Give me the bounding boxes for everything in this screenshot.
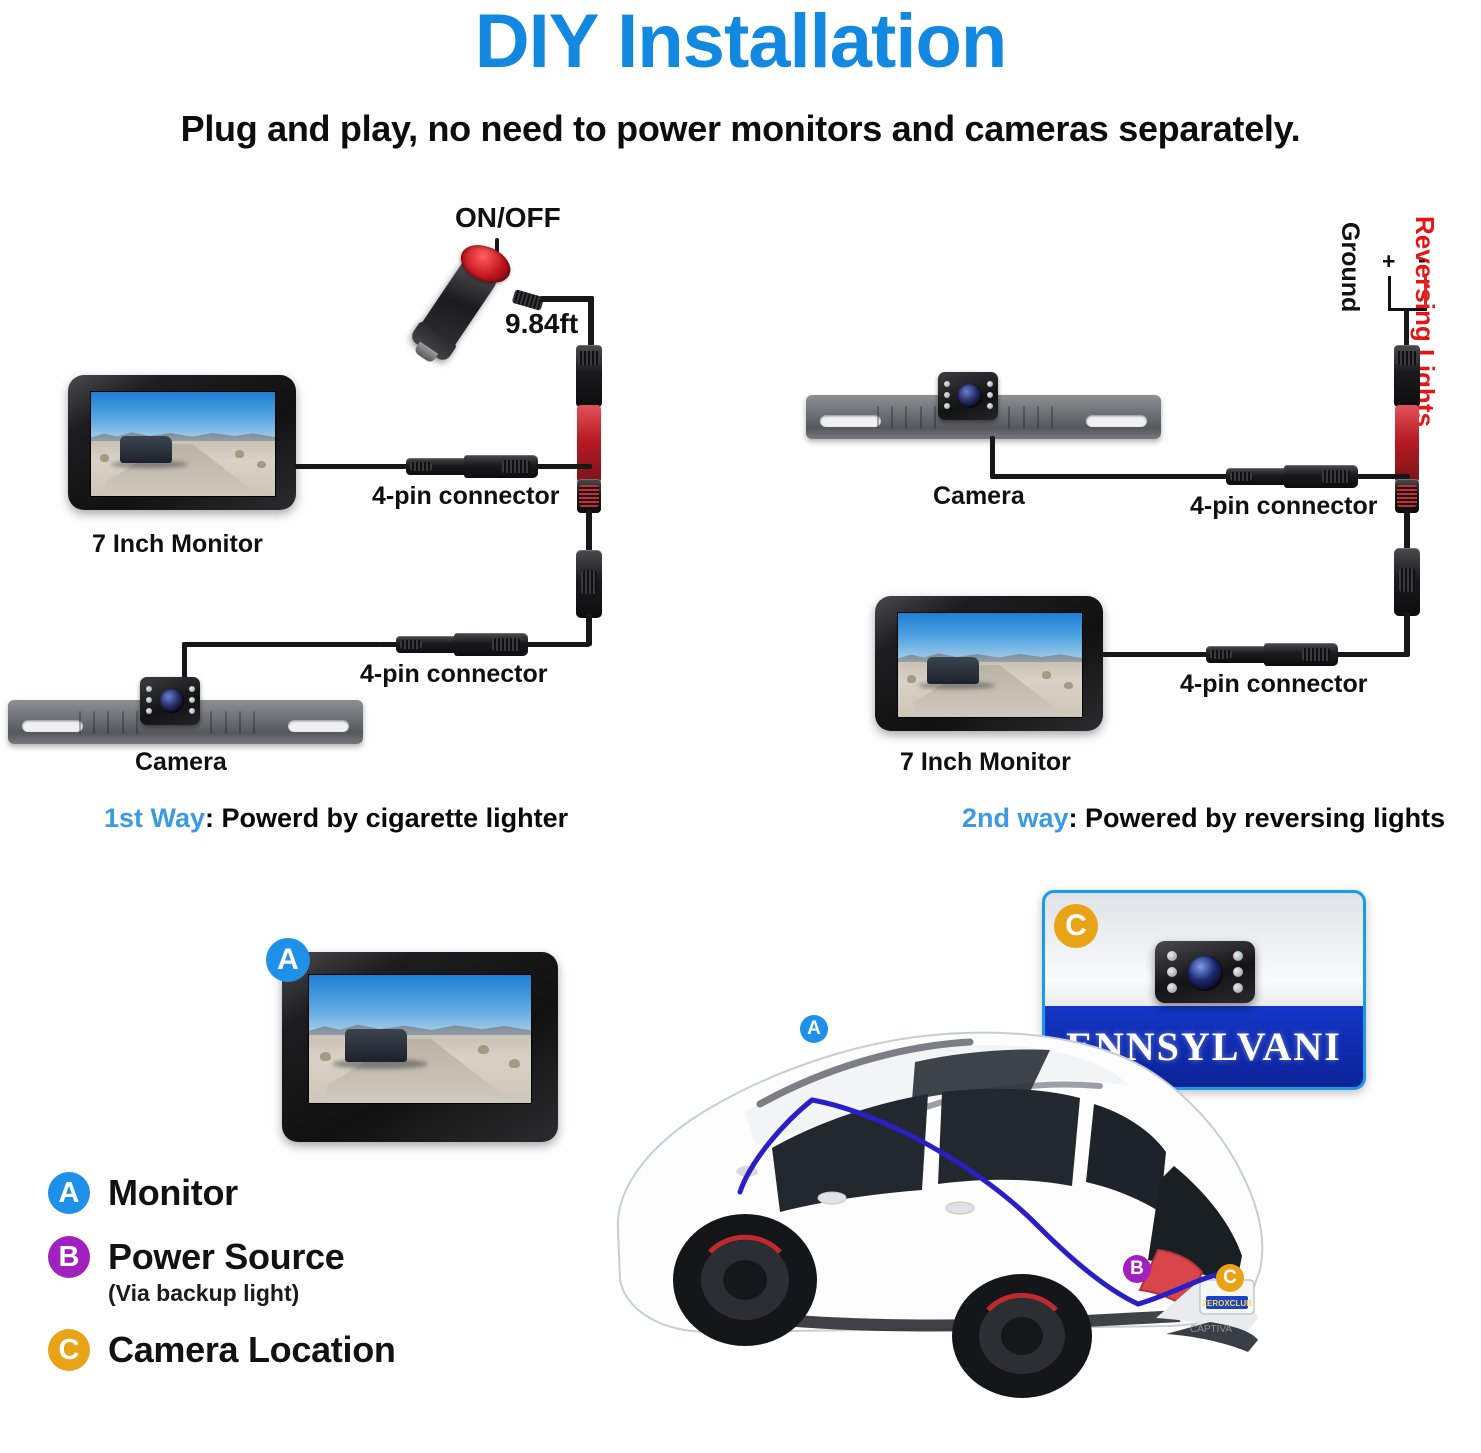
power-cable-right-to-splitter: [1404, 510, 1410, 552]
four-pin-label-bottom-right: 4-pin connector: [1180, 670, 1368, 699]
cable-length-label: 9.84ft: [505, 308, 578, 340]
legend-item-power: B Power Source (Via backup light): [48, 1236, 478, 1307]
reversing-lead: [1424, 276, 1427, 310]
caption-right: 2nd way: Powered by reversing lights: [962, 803, 1445, 834]
monitor-right-label: 7 Inch Monitor: [900, 748, 1071, 777]
y-split-trunk: [1404, 308, 1409, 348]
legend-item-monitor: A Monitor: [48, 1172, 478, 1214]
splitter-grip-right: [1399, 568, 1415, 592]
four-pin-connector-top-right: [1226, 464, 1364, 489]
four-pin-connector-bottom: [396, 632, 534, 657]
four-pin-connector-top: [406, 454, 544, 479]
power-cable-to-splitter: [586, 510, 592, 554]
legend: A Monitor B Power Source (Via backup lig…: [48, 1172, 478, 1371]
camera-module-right: [938, 372, 998, 420]
cable-bottom-elbow: [182, 642, 382, 647]
onoff-label: ON/OFF: [455, 202, 561, 234]
monitor-inset-screen: [308, 974, 532, 1104]
minus-sign-label: -: [1418, 246, 1426, 273]
plate-small-text: ZEROXCLUB: [1202, 1299, 1252, 1308]
badge-camera-on-car: C: [1216, 1264, 1244, 1292]
power-cable-vertical: [588, 296, 594, 348]
legend-badge-b: B: [48, 1236, 90, 1278]
monitor-screen-right: [897, 612, 1083, 718]
vehicle-illustration: ZEROXCLUB CAPTIVA: [560, 980, 1300, 1430]
splitter-grip: [581, 570, 597, 594]
diagram-left: ON/OFF 9.84ft 7 Inch Monitor: [0, 190, 740, 850]
legend-label-power: Power Source: [108, 1236, 344, 1278]
legend-badge-a: A: [48, 1172, 90, 1214]
four-pin-label-top-right: 4-pin connector: [1190, 492, 1378, 521]
page-title: DIY Installation: [0, 0, 1481, 85]
four-pin-connector-bottom-right: [1206, 642, 1344, 667]
model-badge: CAPTIVA: [1190, 1324, 1232, 1335]
badge-camera-inset: C: [1054, 904, 1098, 948]
monitor-cable-top: [294, 464, 414, 469]
ground-label: Ground: [1335, 222, 1364, 312]
page-subtitle: Plug and play, no need to power monitors…: [0, 108, 1481, 150]
cable-top-to-splitter: [536, 464, 592, 469]
camera-lens: [159, 688, 184, 713]
camera-left-label: Camera: [135, 748, 227, 777]
legend-item-camera: C Camera Location: [48, 1329, 478, 1371]
caption-left-prefix: 1st Way: [104, 803, 205, 833]
plus-sign-label: +: [1382, 248, 1395, 275]
legend-sublabel-power: (Via backup light): [108, 1280, 478, 1307]
badge-power-on-car: B: [1123, 1255, 1151, 1283]
diagram-right: Ground Reversing Lights + - Camera: [740, 190, 1481, 850]
caption-right-prefix: 2nd way: [962, 803, 1069, 833]
legend-badge-c: C: [48, 1329, 90, 1371]
monitor-left-label: 7 Inch Monitor: [92, 530, 263, 559]
caption-left: 1st Way: Powerd by cigarette lighter: [104, 803, 568, 834]
badge-monitor-inset: A: [266, 938, 310, 982]
monitor-screen-left: [90, 391, 276, 497]
camera-cable-drop-right: [990, 436, 995, 478]
camera-lens: [957, 383, 982, 408]
cable-bottom-drop: [182, 642, 187, 682]
splitter-lower-stub-right: [1404, 612, 1410, 656]
monitor-left: [68, 375, 296, 510]
camera-module-left: [140, 677, 200, 725]
camera-right-label: Camera: [933, 482, 1025, 511]
caption-right-rest: : Powered by reversing lights: [1069, 803, 1446, 833]
badge-monitor-on-car: A: [800, 1015, 828, 1043]
ground-lead: [1388, 276, 1391, 310]
four-pin-label-top: 4-pin connector: [372, 482, 560, 511]
power-cable-horizontal: [540, 296, 594, 302]
legend-label-monitor: Monitor: [108, 1172, 238, 1214]
caption-left-rest: : Powerd by cigarette lighter: [205, 803, 568, 833]
monitor-right: [875, 596, 1103, 731]
monitor-inset: [282, 952, 558, 1142]
legend-label-camera: Camera Location: [108, 1329, 396, 1371]
four-pin-label-bottom: 4-pin connector: [360, 660, 548, 689]
